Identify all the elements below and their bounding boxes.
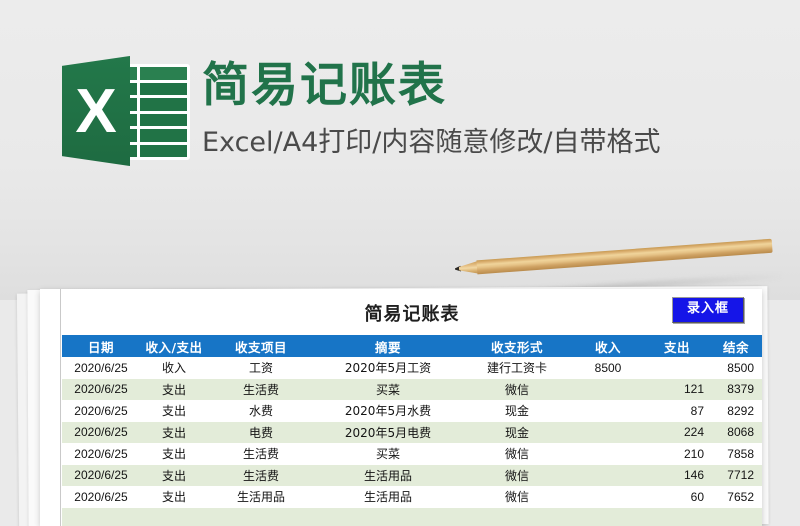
column-header-balance[interactable]: 结余	[710, 335, 762, 357]
column-header-expense[interactable]: 支出	[644, 335, 710, 357]
cell-type[interactable]: 支出	[140, 379, 208, 401]
cell-empty[interactable]	[208, 508, 314, 526]
entry-form-button[interactable]: 录入框	[672, 297, 744, 323]
cell-item[interactable]: 生活费	[208, 465, 314, 487]
column-header-item[interactable]: 收支项目	[208, 335, 314, 357]
column-header-date[interactable]: 日期	[62, 335, 140, 357]
cell-memo[interactable]: 买菜	[314, 443, 462, 465]
cell-expense[interactable]: 224	[644, 422, 710, 444]
cell-form[interactable]: 微信	[462, 465, 572, 487]
cell-type[interactable]: 支出	[140, 443, 208, 465]
cell-memo[interactable]: 买菜	[314, 379, 462, 401]
cell-form[interactable]: 微信	[462, 486, 572, 508]
cell-date[interactable]: 2020/6/25	[62, 486, 140, 508]
cell-expense[interactable]: 60	[644, 486, 710, 508]
cell-expense[interactable]: 146	[644, 465, 710, 487]
cell-income[interactable]	[572, 443, 644, 465]
cell-type[interactable]: 支出	[140, 465, 208, 487]
cell-expense[interactable]: 210	[644, 443, 710, 465]
cell-expense[interactable]: 121	[644, 379, 710, 401]
cell-type[interactable]: 支出	[140, 400, 208, 422]
cell-balance[interactable]: 8500	[710, 357, 762, 379]
cell-income[interactable]	[572, 379, 644, 401]
cell-empty[interactable]	[710, 508, 762, 526]
cell-item[interactable]: 电费	[208, 422, 314, 444]
column-header-form[interactable]: 收支形式	[462, 335, 572, 357]
cell-empty[interactable]	[62, 508, 140, 526]
cell-date[interactable]: 2020/6/25	[62, 443, 140, 465]
ledger-table-body: 2020/6/25收入工资2020年5月工资建行工资卡850085002020/…	[62, 357, 762, 526]
cell-memo[interactable]: 2020年5月电费	[314, 422, 462, 444]
column-header-type[interactable]: 收入/支出	[140, 335, 208, 357]
cell-form[interactable]: 微信	[462, 443, 572, 465]
cell-date[interactable]: 2020/6/25	[62, 422, 140, 444]
ledger-table: 日期 收入/支出 收支项目 摘要 收支形式 收入 支出 结余 2020/6/25…	[62, 335, 762, 526]
excel-letter-x: X	[62, 56, 130, 166]
cell-item[interactable]: 生活用品	[208, 486, 314, 508]
cell-empty[interactable]	[572, 508, 644, 526]
cell-type[interactable]: 支出	[140, 486, 208, 508]
cell-empty[interactable]	[140, 508, 208, 526]
cell-balance[interactable]: 7712	[710, 465, 762, 487]
cell-item[interactable]: 生活费	[208, 379, 314, 401]
cell-memo[interactable]: 2020年5月工资	[314, 357, 462, 379]
sheet-title-row: 简易记账表 录入框	[62, 289, 762, 335]
table-row-empty[interactable]	[62, 508, 762, 526]
promo-subtitle: Excel/A4打印/内容随意修改/自带格式	[202, 120, 660, 159]
cell-date[interactable]: 2020/6/25	[62, 379, 140, 401]
cell-date[interactable]: 2020/6/25	[62, 465, 140, 487]
cell-item[interactable]: 生活费	[208, 443, 314, 465]
spreadsheet-panel: 简易记账表 录入框 日期 收入/支出 收支项目 摘要 收支形式 收入 支出 结余	[40, 289, 762, 526]
screenshot-root: X 简易记账表 Excel/A4打印/内容随意修改/自带格式 简易记账表 录入框	[0, 0, 800, 526]
cell-expense[interactable]: 87	[644, 400, 710, 422]
table-row[interactable]: 2020/6/25支出生活费买菜微信2107858	[62, 443, 762, 465]
cell-form[interactable]: 现金	[462, 400, 572, 422]
cell-item[interactable]: 水费	[208, 400, 314, 422]
cell-income[interactable]: 8500	[572, 357, 644, 379]
table-row[interactable]: 2020/6/25收入工资2020年5月工资建行工资卡85008500	[62, 357, 762, 379]
table-header-row: 日期 收入/支出 收支项目 摘要 收支形式 收入 支出 结余	[62, 335, 762, 357]
cell-income[interactable]	[572, 486, 644, 508]
promo-banner: X 简易记账表 Excel/A4打印/内容随意修改/自带格式	[62, 56, 660, 166]
cell-memo[interactable]: 2020年5月水费	[314, 400, 462, 422]
cell-balance[interactable]: 7858	[710, 443, 762, 465]
cell-type[interactable]: 收入	[140, 357, 208, 379]
cell-item[interactable]: 工资	[208, 357, 314, 379]
column-header-income[interactable]: 收入	[572, 335, 644, 357]
column-header-memo[interactable]: 摘要	[314, 335, 462, 357]
cell-type[interactable]: 支出	[140, 422, 208, 444]
cell-balance[interactable]: 8379	[710, 379, 762, 401]
cell-empty[interactable]	[314, 508, 462, 526]
table-row[interactable]: 2020/6/25支出水费2020年5月水费现金878292	[62, 400, 762, 422]
cell-balance[interactable]: 8292	[710, 400, 762, 422]
cell-date[interactable]: 2020/6/25	[62, 357, 140, 379]
cell-balance[interactable]: 8068	[710, 422, 762, 444]
promo-title: 简易记账表	[202, 60, 660, 112]
cell-income[interactable]	[572, 422, 644, 444]
cell-form[interactable]: 现金	[462, 422, 572, 444]
table-row[interactable]: 2020/6/25支出生活用品生活用品微信607652	[62, 486, 762, 508]
cell-form[interactable]: 微信	[462, 379, 572, 401]
cell-memo[interactable]: 生活用品	[314, 465, 462, 487]
table-row[interactable]: 2020/6/25支出电费2020年5月电费现金2248068	[62, 422, 762, 444]
table-row[interactable]: 2020/6/25支出生活费生活用品微信1467712	[62, 465, 762, 487]
cell-memo[interactable]: 生活用品	[314, 486, 462, 508]
cell-expense[interactable]	[644, 357, 710, 379]
cell-date[interactable]: 2020/6/25	[62, 400, 140, 422]
cell-balance[interactable]: 7652	[710, 486, 762, 508]
excel-logo-icon: X	[62, 56, 190, 166]
sheet-title: 简易记账表	[62, 300, 762, 326]
cell-income[interactable]	[572, 465, 644, 487]
cell-income[interactable]	[572, 400, 644, 422]
cell-empty[interactable]	[462, 508, 572, 526]
promo-text-block: 简易记账表 Excel/A4打印/内容随意修改/自带格式	[202, 56, 660, 159]
table-row[interactable]: 2020/6/25支出生活费买菜微信1218379	[62, 379, 762, 401]
cell-empty[interactable]	[644, 508, 710, 526]
cell-form[interactable]: 建行工资卡	[462, 357, 572, 379]
